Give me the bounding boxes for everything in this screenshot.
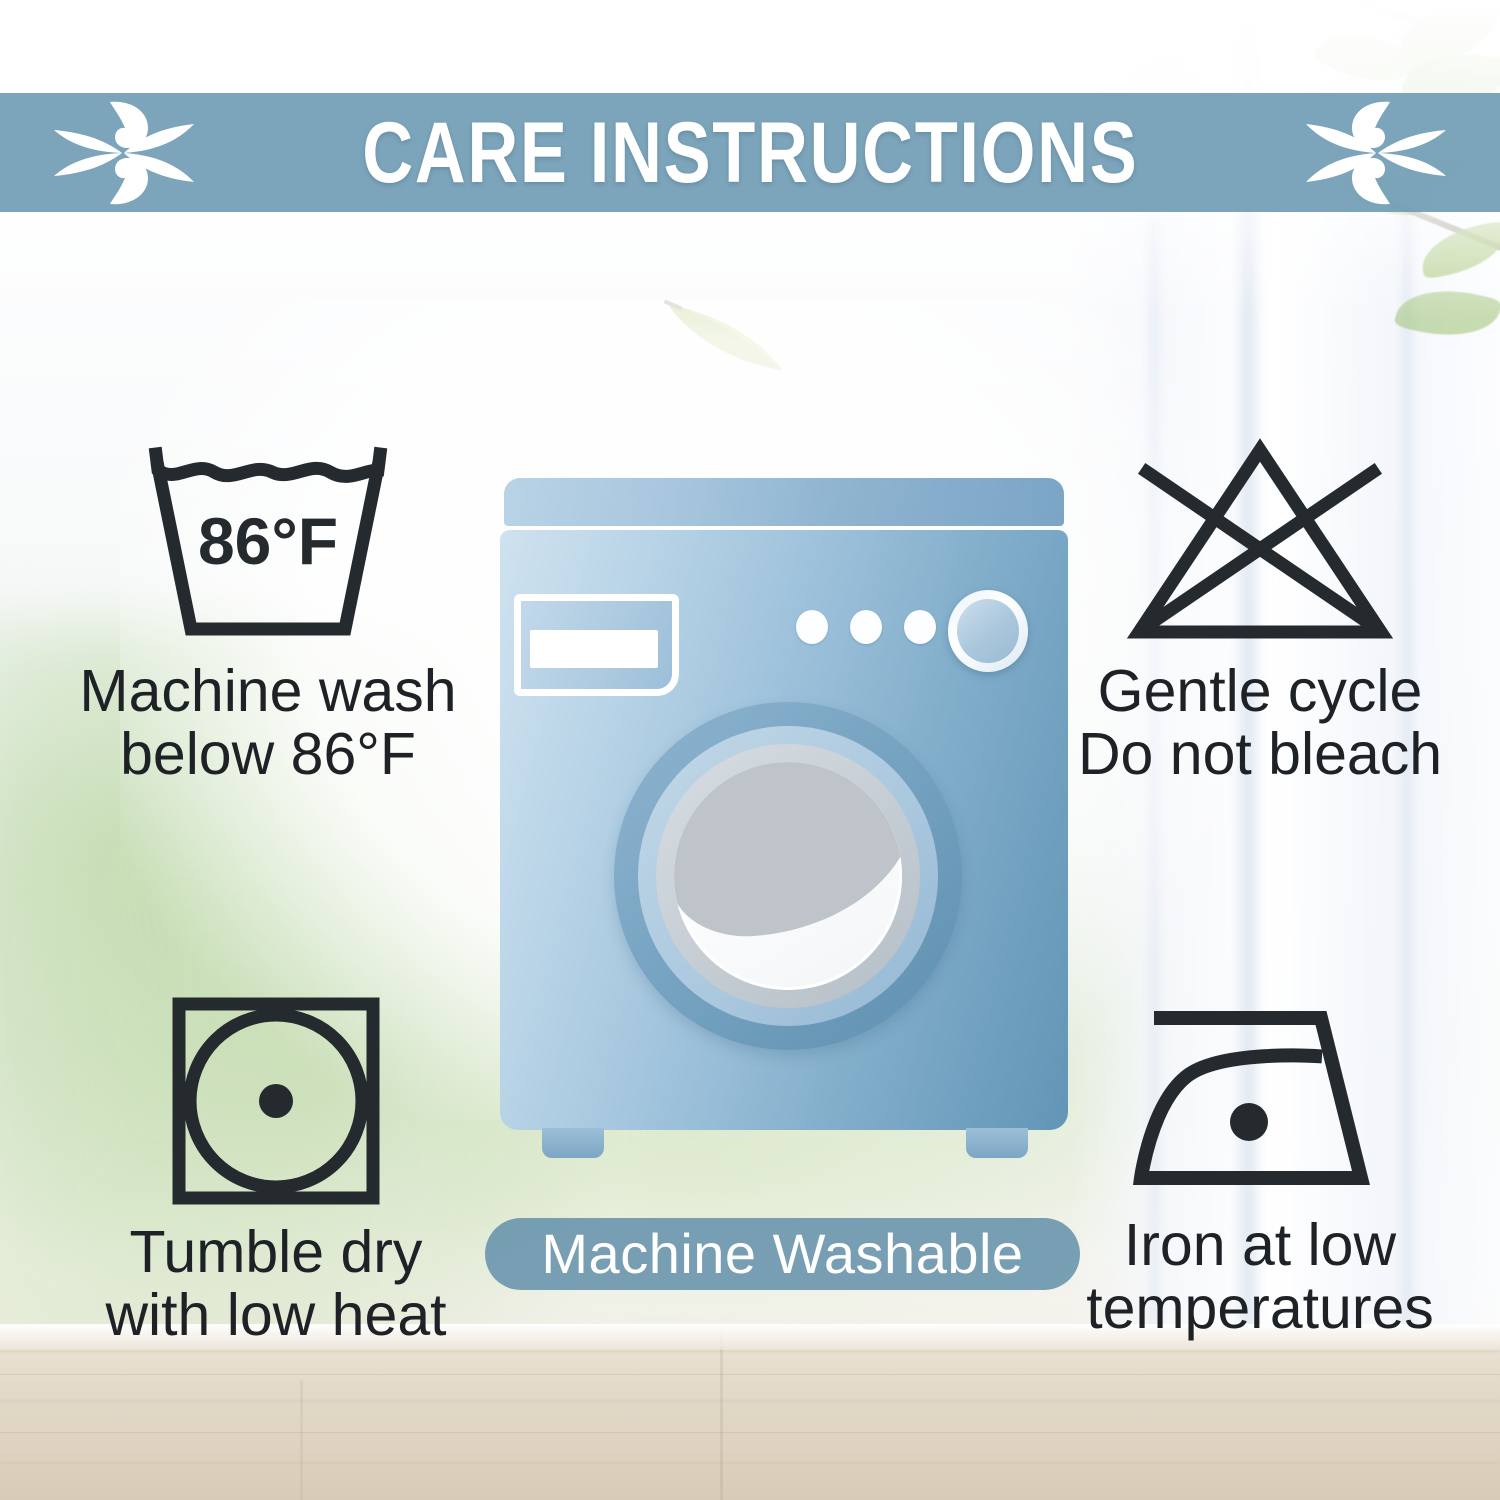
washer-indicator-light — [904, 610, 936, 644]
care-symbol-label-machine-wash: Machine wash below 86°F — [79, 660, 456, 786]
fleur-de-lis-ornament-right-icon — [1302, 94, 1452, 212]
washer-door-glass — [674, 762, 902, 990]
care-instructions-infographic: CARE INSTRUCTIONS 86°F Machi — [0, 0, 1500, 1500]
washer-foot-right — [966, 1128, 1028, 1158]
washer-indicator-light — [850, 610, 882, 644]
care-symbol-machine-wash: 86°F Machine wash below 86°F — [48, 436, 488, 786]
washer-door-middle-ring — [638, 726, 938, 1026]
washer-door-inner-ring — [656, 744, 920, 1008]
care-symbol-iron-low-temp: Iron at low temperatures — [1040, 1000, 1480, 1340]
tumble-dry-low-heat-icon — [170, 995, 382, 1207]
washer-foot-left — [542, 1128, 604, 1158]
wash-temperature-value: 86°F — [198, 504, 338, 578]
washer-indicator-lights — [796, 610, 936, 644]
care-symbol-gentle-cycle-no-bleach: Gentle cycle Do not bleach — [1040, 436, 1480, 786]
header-banner: CARE INSTRUCTIONS — [0, 93, 1500, 212]
washer-lid — [504, 478, 1064, 526]
machine-washable-badge-label: Machine Washable — [541, 1226, 1023, 1282]
washer-body — [500, 530, 1068, 1130]
washer-drawer-slot — [530, 630, 658, 668]
iron-low-temperature-icon — [1125, 1000, 1395, 1200]
crossed-triangle-no-bleach-icon — [1115, 436, 1405, 646]
washer-knob-face — [957, 599, 1019, 663]
machine-washable-badge: Machine Washable — [485, 1218, 1080, 1290]
washer-control-knob[interactable] — [948, 590, 1028, 672]
washing-machine-illustration — [500, 478, 1070, 1178]
washer-door-outer-ring — [614, 702, 962, 1050]
washer-glass-reflection — [674, 762, 902, 941]
fleur-de-lis-ornament-left-icon — [48, 94, 198, 212]
care-symbol-label-gentle-cycle: Gentle cycle Do not bleach — [1078, 660, 1442, 786]
care-symbol-label-tumble-dry: Tumble dry with low heat — [105, 1221, 446, 1347]
washer-indicator-light — [796, 610, 828, 644]
care-symbol-tumble-dry-low: Tumble dry with low heat — [56, 995, 496, 1347]
care-symbol-label-iron: Iron at low temperatures — [1086, 1214, 1434, 1340]
wash-tub-icon: 86°F — [128, 436, 408, 646]
wooden-table-surface — [0, 1328, 1500, 1500]
banner-title: CARE INSTRUCTIONS — [362, 110, 1138, 196]
